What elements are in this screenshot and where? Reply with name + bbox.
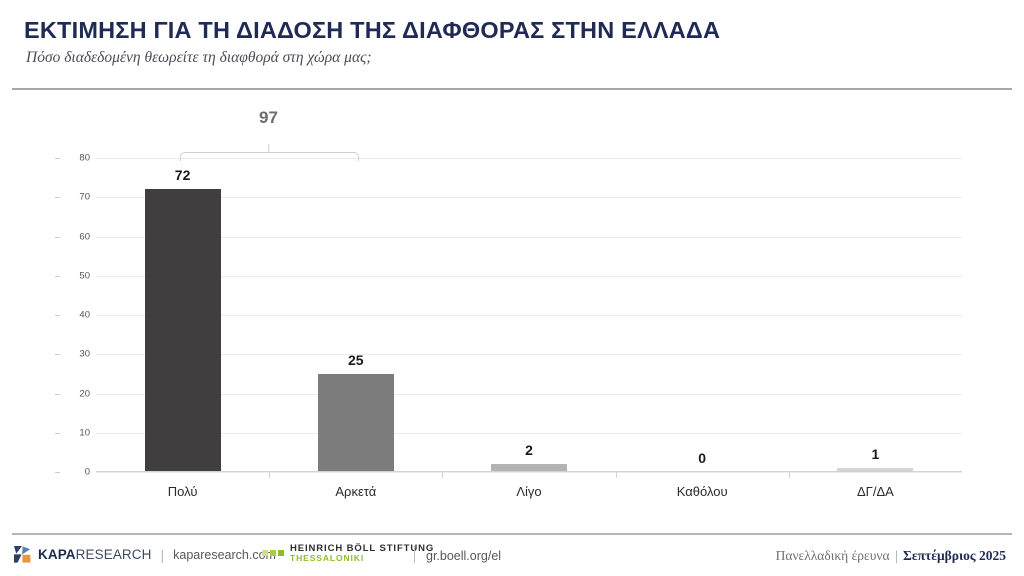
bracket-shape xyxy=(180,152,359,161)
category-tick xyxy=(789,472,790,478)
bar-group[interactable]: 72 xyxy=(96,158,269,472)
bar-series: 7225201 xyxy=(96,158,962,472)
kapa-research-branding: KAPARESEARCH | kaparesearch.com xyxy=(14,546,276,563)
y-axis-tick-label: 70 xyxy=(79,192,90,203)
x-axis-category-labels: ΠολύΑρκετάΛίγοΚαθόλουΔΓ/ΔΑ xyxy=(96,484,962,508)
x-axis-label: ΔΓ/ΔΑ xyxy=(857,484,894,499)
y-axis-tick-label: 40 xyxy=(79,310,90,321)
y-axis-tick-mark xyxy=(55,472,60,473)
y-axis-tick-mark xyxy=(55,433,60,434)
bar-group[interactable]: 25 xyxy=(269,158,442,472)
survey-date: Σεπτέμβριος 2025 xyxy=(903,548,1006,563)
y-axis-labels: 01020304050607080 xyxy=(60,158,90,472)
y-axis-tick-label: 10 xyxy=(79,427,90,438)
bracket-annotation xyxy=(180,144,357,160)
x-axis-label: Αρκετά xyxy=(335,484,376,499)
footer-divider xyxy=(12,533,1012,535)
page-title: ΕΚΤΙΜΗΣΗ ΓΙΑ ΤΗ ΔΙΑΔΟΣΗ ΤΗΣ ΔΙΑΦΘΟΡΑΣ ΣΤ… xyxy=(24,17,720,44)
y-axis-tick-label: 20 xyxy=(79,388,90,399)
bar-value-label: 1 xyxy=(871,446,879,462)
bracket-annotation-value: 97 xyxy=(180,108,357,128)
y-axis-tick-mark xyxy=(55,394,60,395)
boell-city: THESSALONIKI xyxy=(290,554,434,563)
kapa-logo-icon xyxy=(14,546,31,563)
bar[interactable] xyxy=(145,189,221,472)
bar-chart: 01020304050607080 7225201 ΠολύΑρκετάΛίγο… xyxy=(0,92,1024,524)
y-axis-tick-mark xyxy=(55,354,60,355)
footer-pipe-1: | xyxy=(160,547,164,563)
kapa-bold-text: KAPA xyxy=(38,547,76,562)
gridline xyxy=(96,472,962,473)
page-header: ΕΚΤΙΜΗΣΗ ΓΙΑ ΤΗ ΔΙΑΔΟΣΗ ΤΗΣ ΔΙΑΦΘΟΡΑΣ ΣΤ… xyxy=(0,0,1024,92)
kapa-website-link[interactable]: kaparesearch.com xyxy=(173,548,276,562)
boell-foundation-branding: HEINRICH BÖLL STIFTUNG THESSALONIKI xyxy=(262,544,434,563)
y-axis-tick-mark xyxy=(55,158,60,159)
bar-group[interactable]: 1 xyxy=(789,158,962,472)
bar-value-label: 0 xyxy=(698,450,706,466)
page-footer: KAPARESEARCH | kaparesearch.com HEINRICH… xyxy=(0,524,1024,576)
y-axis-tick-mark xyxy=(55,237,60,238)
x-axis-label: Λίγο xyxy=(516,484,541,499)
y-axis-tick-label: 0 xyxy=(85,467,90,478)
y-axis-tick-mark xyxy=(55,197,60,198)
x-axis-line xyxy=(96,471,962,472)
bar-value-label: 2 xyxy=(525,442,533,458)
y-axis-tick-label: 60 xyxy=(79,231,90,242)
bar-group[interactable]: 2 xyxy=(442,158,615,472)
plot-area: 7225201 xyxy=(96,158,962,472)
boell-squares-icon xyxy=(262,550,284,556)
footer-pipe-2 xyxy=(414,546,415,563)
survey-credit: Πανελλαδική έρευνα | Σεπτέμβριος 2025 xyxy=(776,548,1006,564)
y-axis-tick-label: 80 xyxy=(79,153,90,164)
category-tick xyxy=(442,472,443,478)
y-axis-tick-mark xyxy=(55,315,60,316)
bar-value-label: 72 xyxy=(175,167,191,183)
page-subtitle: Πόσο διαδεδομένη θεωρείτε τη διαφθορά στ… xyxy=(26,49,372,67)
kapa-light-text: RESEARCH xyxy=(76,547,152,562)
boell-logo-text: HEINRICH BÖLL STIFTUNG THESSALONIKI xyxy=(290,544,434,563)
y-axis-tick-label: 30 xyxy=(79,349,90,360)
bar[interactable] xyxy=(318,374,394,472)
survey-separator: | xyxy=(895,548,898,563)
boell-website-link[interactable]: gr.boell.org/el xyxy=(426,549,501,563)
y-axis-tick-label: 50 xyxy=(79,270,90,281)
x-axis-label: Καθόλου xyxy=(677,484,728,499)
bar-value-label: 25 xyxy=(348,352,364,368)
bar-group[interactable]: 0 xyxy=(616,158,789,472)
survey-label: Πανελλαδική έρευνα xyxy=(776,548,890,563)
y-axis-tick-mark xyxy=(55,276,60,277)
category-tick xyxy=(616,472,617,478)
category-tick xyxy=(269,472,270,478)
header-divider xyxy=(12,88,1012,90)
kapa-logo-text: KAPARESEARCH xyxy=(38,547,151,562)
x-axis-label: Πολύ xyxy=(168,484,198,499)
